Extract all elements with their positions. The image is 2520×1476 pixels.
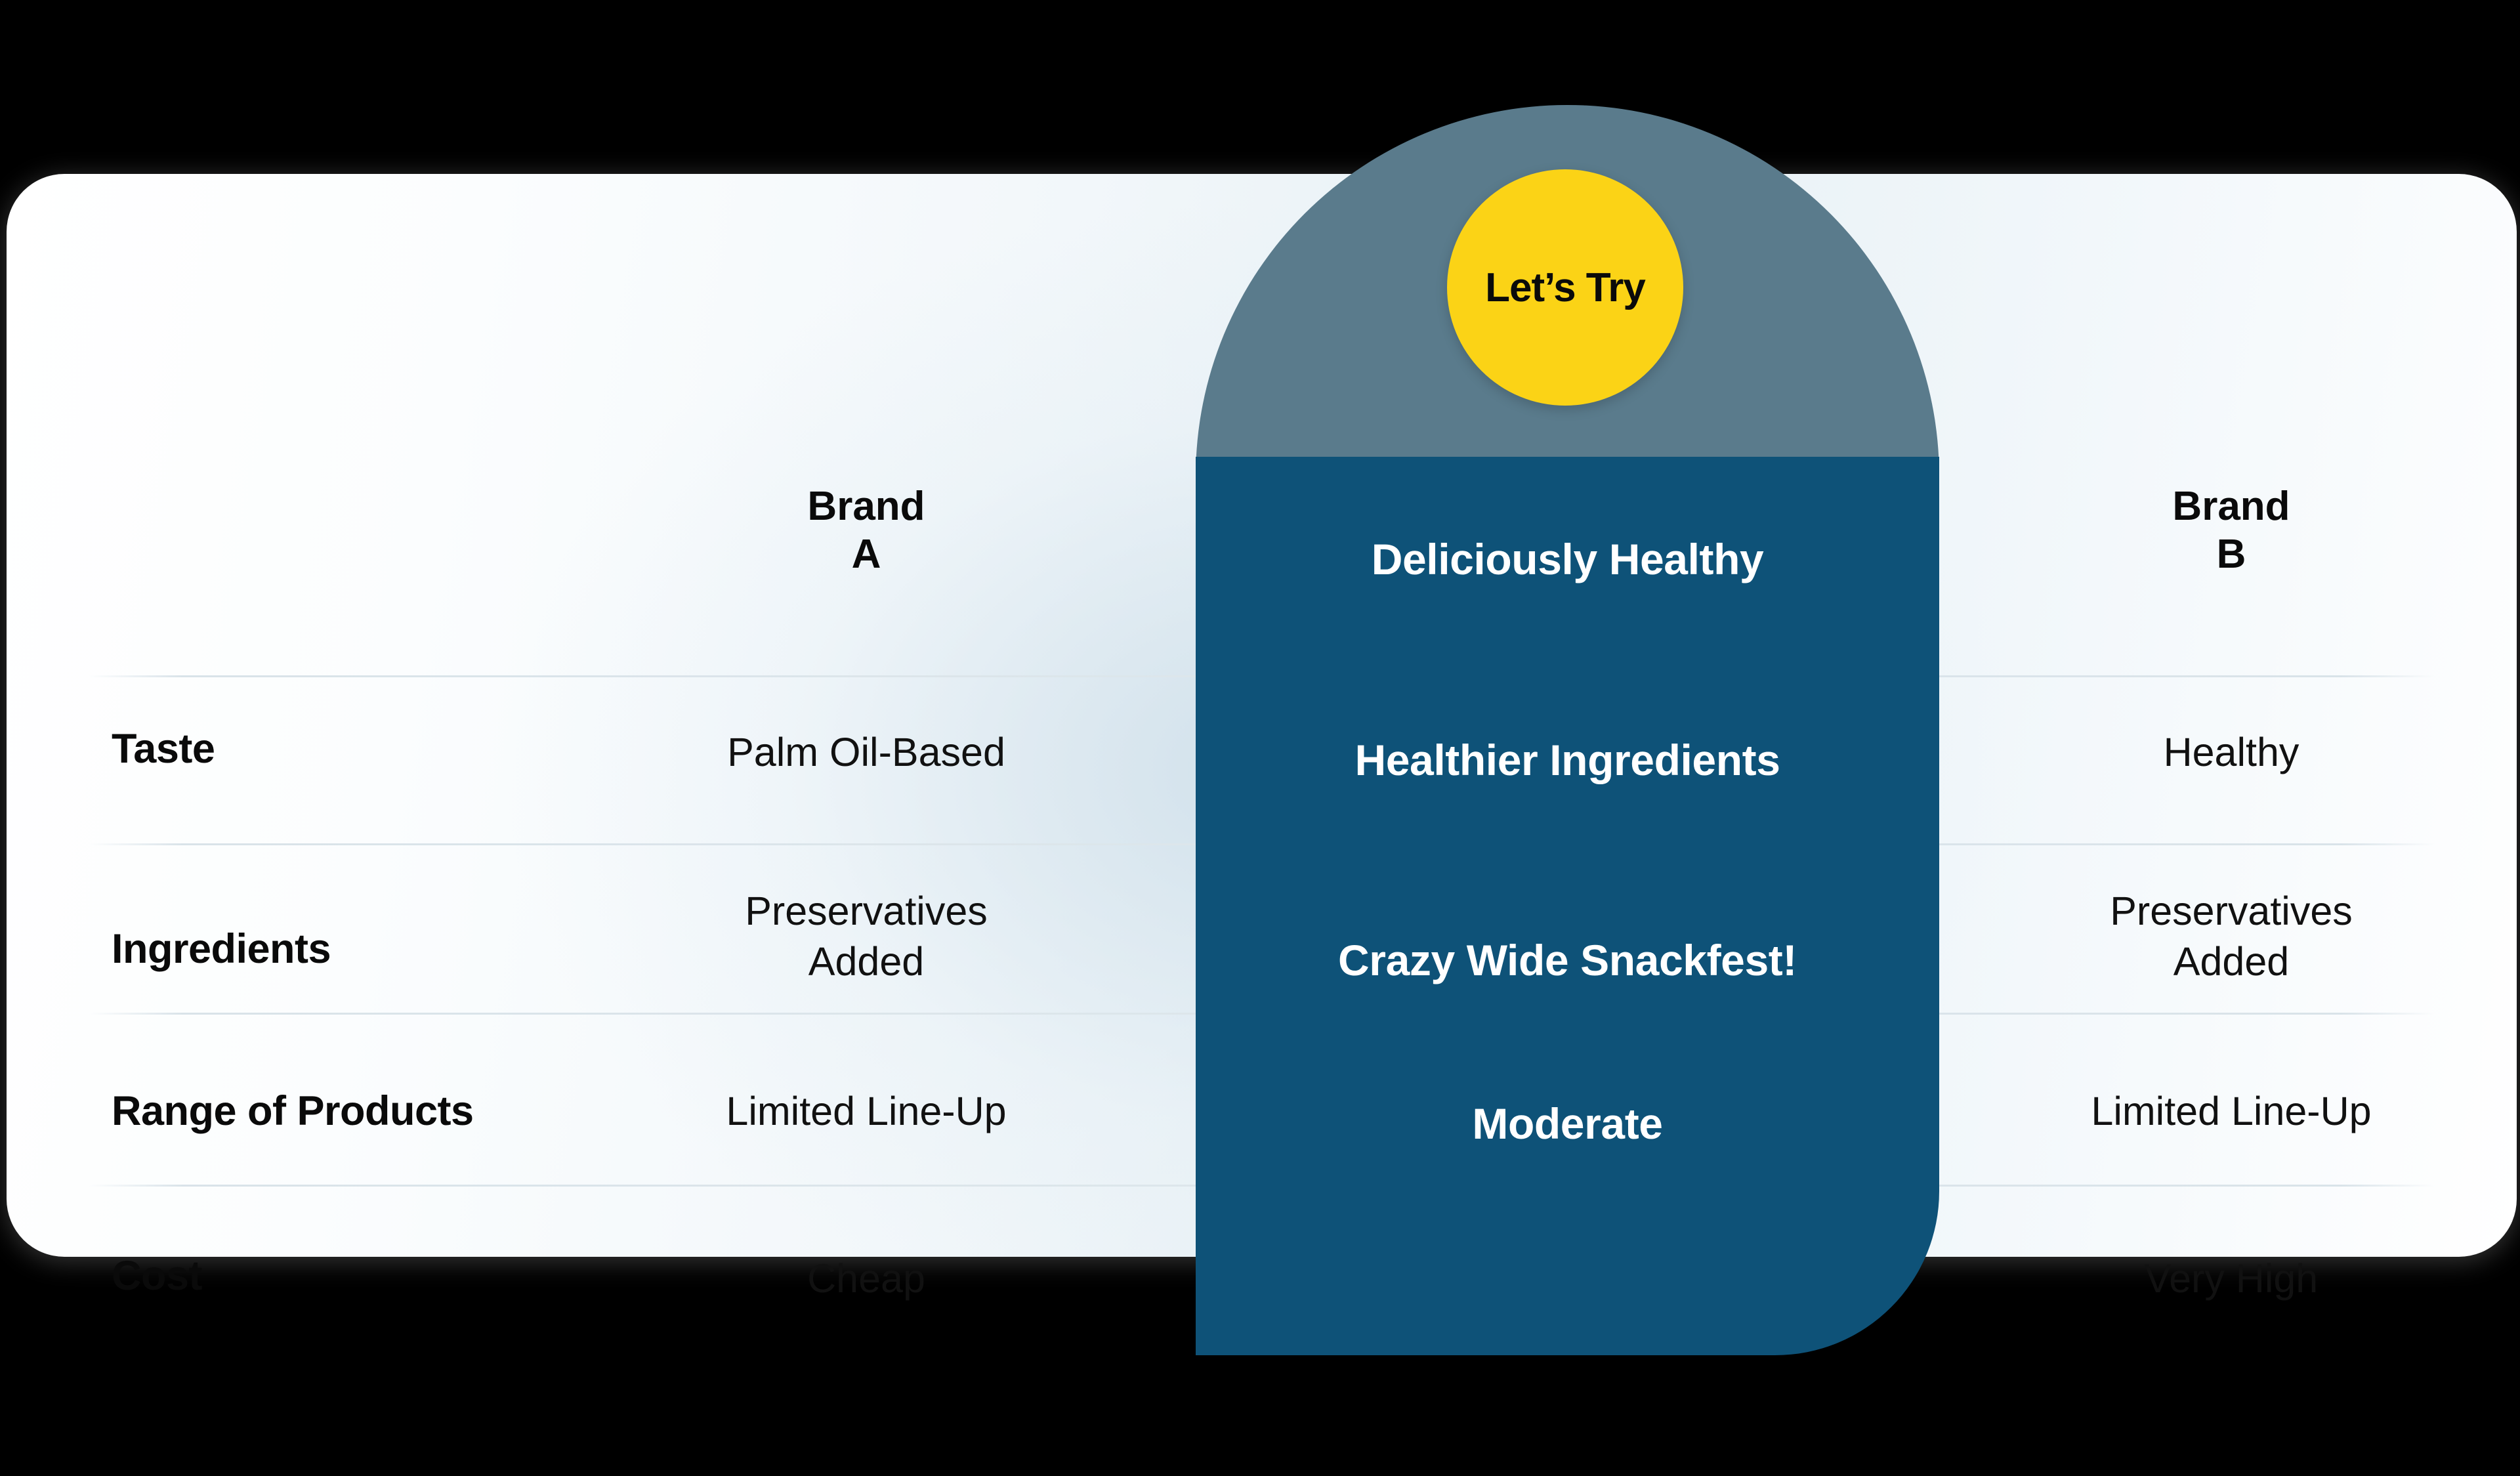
brand-b-header-line1: Brand	[1969, 482, 2494, 530]
cell-highlight-range: Crazy Wide Snackfest!	[1196, 935, 1939, 985]
cell-brand-b-range: Limited Line-Up	[1969, 1086, 2494, 1137]
cell-brand-a-cost: Cheap	[558, 1254, 1175, 1304]
cell-brand-b-ingredients-line1: Preservatives	[1969, 886, 2494, 937]
cell-highlight-cost: Moderate	[1196, 1099, 1939, 1149]
cell-brand-a-range: Limited Line-Up	[558, 1086, 1175, 1137]
row-label-taste: Taste	[112, 725, 215, 772]
cell-brand-a-taste: Palm Oil-Based	[558, 727, 1175, 778]
row-label-cost: Cost	[112, 1252, 202, 1299]
cell-brand-b-taste: Healthy	[1969, 727, 2494, 778]
cell-brand-a-ingredients: Preservatives Added	[558, 886, 1175, 987]
cell-brand-a-ingredients-line1: Preservatives	[558, 886, 1175, 937]
cell-highlight-ingredients: Healthier Ingredients	[1196, 735, 1939, 785]
column-header-brand-b: Brand B	[1969, 482, 2494, 578]
cell-brand-b-cost: Very High	[1969, 1254, 2494, 1304]
row-label-ingredients: Ingredients	[112, 925, 331, 973]
cell-brand-a-ingredients-line2: Added	[558, 937, 1175, 987]
column-header-brand-a: Brand A	[558, 482, 1175, 578]
brand-a-header-line2: A	[558, 530, 1175, 578]
highlight-column-panel[interactable]: Deliciously Healthy Healthier Ingredient…	[1196, 457, 1939, 1355]
brand-a-header-line1: Brand	[558, 482, 1175, 530]
lets-try-badge[interactable]: Let’s Try	[1447, 169, 1683, 406]
lets-try-badge-label: Let’s Try	[1485, 264, 1645, 311]
row-label-range-of-products: Range of Products	[112, 1087, 474, 1135]
cell-highlight-taste: Deliciously Healthy	[1196, 534, 1939, 584]
highlight-column-values: Deliciously Healthy Healthier Ingredient…	[1196, 457, 1939, 1355]
cell-brand-b-ingredients-line2: Added	[1969, 937, 2494, 987]
brand-b-header-line2: B	[1969, 530, 2494, 578]
cell-brand-b-ingredients: Preservatives Added	[1969, 886, 2494, 987]
